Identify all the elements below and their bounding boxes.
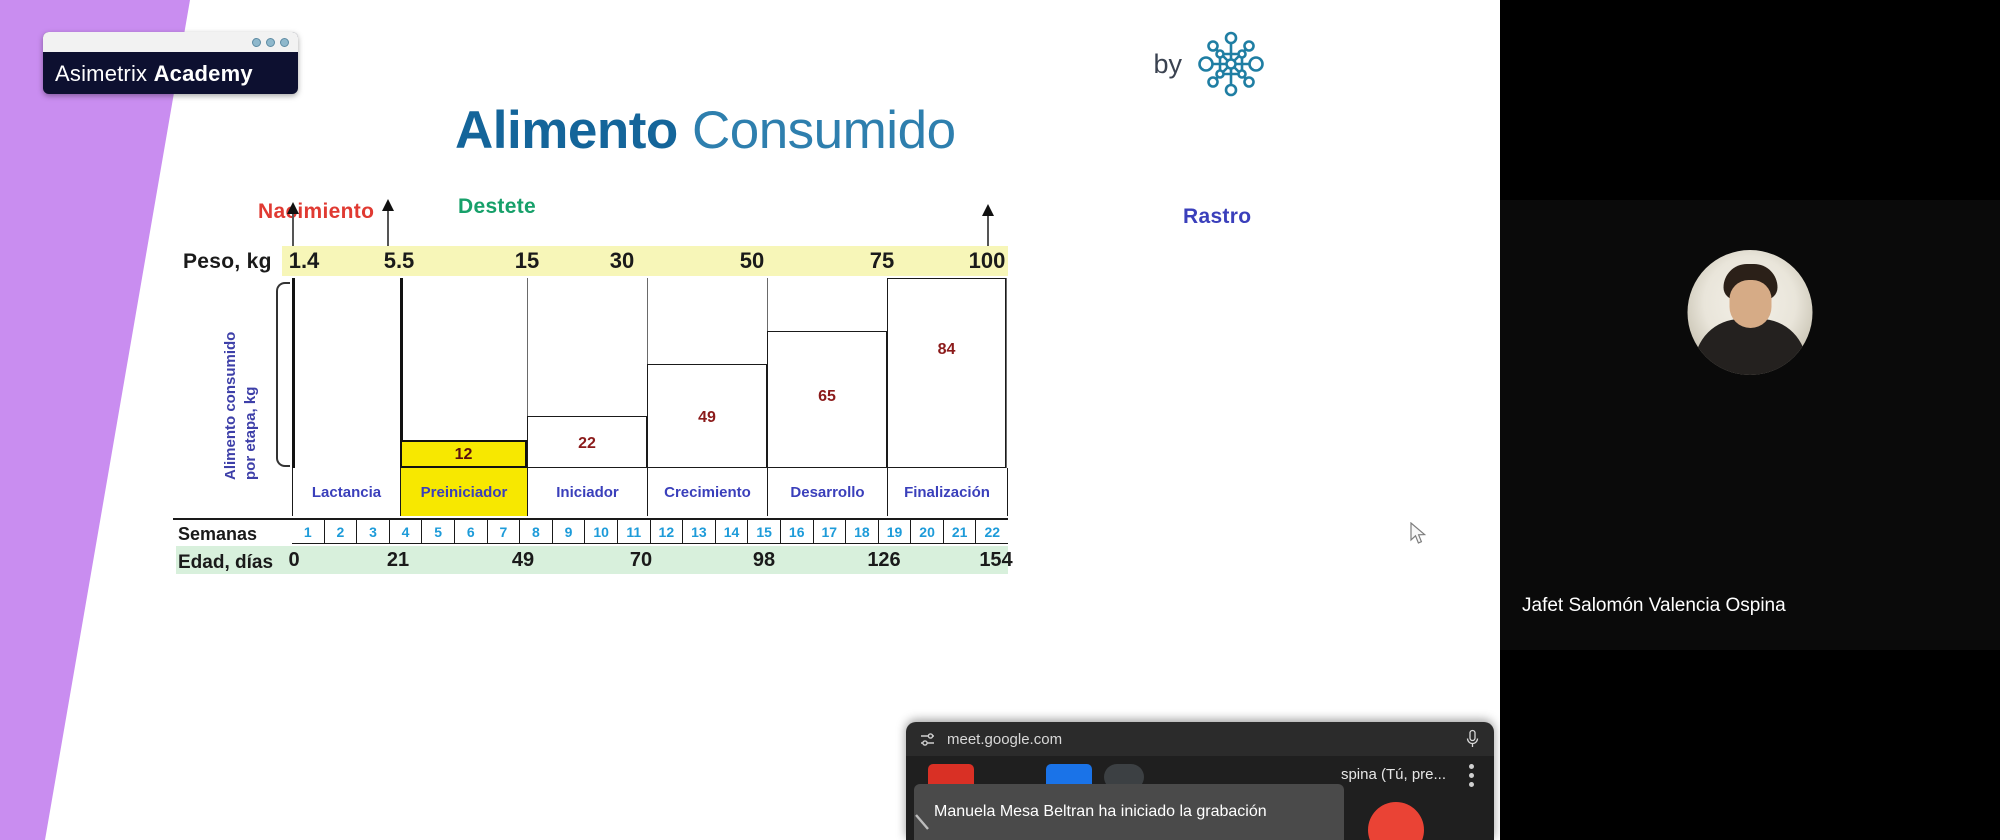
age-value-4: 98 — [753, 549, 775, 572]
marker-label-rastro: Rastro — [1183, 205, 1251, 229]
window-maximize-icon — [266, 38, 275, 47]
y-axis-brace — [276, 282, 290, 467]
screen-root: Asimetrix Academy by — [0, 0, 2000, 840]
week-cell: 12 — [651, 520, 684, 543]
logo-text-regular: Asimetrix — [55, 61, 154, 86]
week-cell: 2 — [325, 520, 358, 543]
weight-value-6: 100 — [969, 248, 1006, 274]
chart-divider-0 — [292, 278, 295, 468]
asimetrix-academy-logo: Asimetrix Academy — [43, 32, 298, 94]
browser-popup[interactable]: meet.google.com spina (Tú, pre... Manuel… — [906, 722, 1494, 840]
slide-title: Alimento Consumido — [455, 100, 956, 161]
week-cell: 22 — [976, 520, 1008, 543]
chart-bar-preiniciador: 12 — [400, 440, 527, 468]
age-value-2: 49 — [512, 549, 534, 572]
chart-bar-value-preiniciador: 12 — [455, 446, 473, 464]
weight-value-2: 15 — [515, 248, 539, 274]
more-options-icon[interactable] — [1469, 764, 1474, 790]
y-axis-label-line1: Alimento consumido — [222, 332, 239, 480]
week-cell: 6 — [455, 520, 488, 543]
age-band: 0 21 49 70 98 126 154 — [176, 546, 1008, 574]
chart-bar-value-crecimiento: 49 — [698, 409, 716, 427]
week-cell: 21 — [944, 520, 977, 543]
weeks-row-left-rule — [173, 518, 292, 520]
decorative-purple-wedge — [0, 0, 200, 840]
chart-bar-finalizacion: 84 — [887, 278, 1006, 468]
chart-bar-value-finalizacion: 84 — [938, 341, 956, 359]
popup-url-text: meet.google.com — [947, 731, 1062, 748]
week-cell: 10 — [585, 520, 618, 543]
weeks-row: 12345678910111213141516171819202122 — [292, 518, 1008, 544]
stage-lactancia: Lactancia — [292, 468, 400, 516]
by-attribution: by — [1153, 28, 1270, 100]
weight-axis-label: Peso, kg — [183, 250, 272, 274]
weight-band: 1.4 5.5 15 30 50 75 100 — [282, 246, 1008, 276]
chart-bar-desarrollo: 65 — [767, 331, 887, 468]
week-cell: 16 — [781, 520, 814, 543]
by-label: by — [1153, 49, 1182, 80]
logo-window-titlebar — [43, 32, 298, 52]
window-minimize-icon — [252, 38, 261, 47]
participant-name: Jafet Salomón Valencia Ospina — [1522, 595, 1786, 617]
toast-marker-icon — [914, 812, 932, 832]
age-value-5: 126 — [867, 549, 900, 572]
week-cell: 19 — [879, 520, 912, 543]
slide-title-bold: Alimento — [455, 101, 678, 160]
week-cell: 17 — [814, 520, 847, 543]
presentation-slide: Asimetrix Academy by — [0, 0, 1500, 840]
stage-finalizacion: Finalización — [887, 468, 1006, 516]
age-value-1: 21 — [387, 549, 409, 572]
stage-name-row: Lactancia Preiniciador Iniciador Crecimi… — [292, 468, 1008, 516]
week-cell: 18 — [846, 520, 879, 543]
week-cell: 5 — [422, 520, 455, 543]
stage-preiniciador: Preiniciador — [400, 468, 527, 516]
stage-row-endcap — [1007, 468, 1009, 516]
marker-arrow-rastro — [987, 215, 989, 246]
recording-toast: Manuela Mesa Beltran ha iniciado la grab… — [914, 784, 1344, 840]
stage-iniciador: Iniciador — [527, 468, 647, 516]
marker-arrow-destete — [387, 210, 389, 246]
slide-title-regular: Consumido — [678, 101, 956, 160]
weight-value-1: 5.5 — [384, 248, 415, 274]
avatar-face — [1729, 280, 1771, 328]
week-cell: 9 — [553, 520, 586, 543]
weight-value-4: 50 — [740, 248, 764, 274]
week-cell: 4 — [390, 520, 423, 543]
y-axis-label: Alimento consumido por etapa, kg — [221, 280, 262, 480]
popup-body: spina (Tú, pre... Manuela Mesa Beltran h… — [906, 756, 1494, 840]
feed-consumption-chart: Nacimiento Destete Rastro Peso, kg 1.4 5… — [228, 190, 1288, 720]
participant-chip-label: spina (Tú, pre... — [1341, 766, 1446, 783]
week-cell: 8 — [520, 520, 553, 543]
marker-label-nacimiento: Nacimiento — [258, 200, 374, 224]
week-cell: 1 — [292, 520, 325, 543]
week-cell: 15 — [748, 520, 781, 543]
week-cell: 3 — [357, 520, 390, 543]
weight-value-5: 75 — [870, 248, 894, 274]
avatar — [1688, 250, 1813, 375]
age-value-3: 70 — [630, 549, 652, 572]
week-cell: 7 — [488, 520, 521, 543]
age-value-6: 154 — [979, 549, 1012, 572]
age-axis-label: Edad, días — [178, 552, 273, 574]
chart-bar-value-desarrollo: 65 — [818, 388, 836, 406]
chart-divider-6 — [1006, 278, 1007, 468]
mouse-cursor-icon — [1410, 522, 1428, 546]
marker-arrow-nacimiento — [292, 213, 294, 246]
week-cell: 11 — [618, 520, 651, 543]
marker-label-destete: Destete — [458, 195, 536, 219]
week-cell: 20 — [911, 520, 944, 543]
chart-bar-value-iniciador: 22 — [578, 435, 596, 453]
week-cell: 14 — [716, 520, 749, 543]
weeks-axis-label: Semanas — [178, 524, 257, 545]
participant-tile[interactable]: Jafet Salomón Valencia Ospina — [1500, 200, 2000, 650]
chart-bar-crecimiento: 49 — [647, 364, 767, 468]
chart-bar-iniciador: 22 — [527, 416, 647, 468]
recording-toast-text: Manuela Mesa Beltran ha iniciado la grab… — [934, 803, 1267, 821]
logo-text-bold: Academy — [154, 61, 253, 86]
chart-plot-area: 12 22 49 65 84 — [292, 278, 1008, 468]
weight-value-0: 1.4 — [289, 248, 320, 274]
week-cell: 13 — [683, 520, 716, 543]
logo-text: Asimetrix Academy — [55, 61, 253, 87]
recording-indicator[interactable] — [1368, 802, 1424, 840]
popup-url-bar[interactable]: meet.google.com — [906, 722, 1494, 756]
y-axis-label-line2: por etapa, kg — [242, 387, 259, 480]
weight-value-3: 30 — [610, 248, 634, 274]
network-node-logo-icon — [1192, 28, 1270, 100]
stage-crecimiento: Crecimiento — [647, 468, 767, 516]
age-value-0: 0 — [288, 549, 299, 572]
window-close-icon — [280, 38, 289, 47]
tune-settings-icon[interactable] — [920, 731, 937, 748]
video-panel: Jafet Salomón Valencia Ospina — [1500, 0, 2000, 840]
microphone-icon[interactable] — [1465, 729, 1480, 749]
stage-desarrollo: Desarrollo — [767, 468, 887, 516]
